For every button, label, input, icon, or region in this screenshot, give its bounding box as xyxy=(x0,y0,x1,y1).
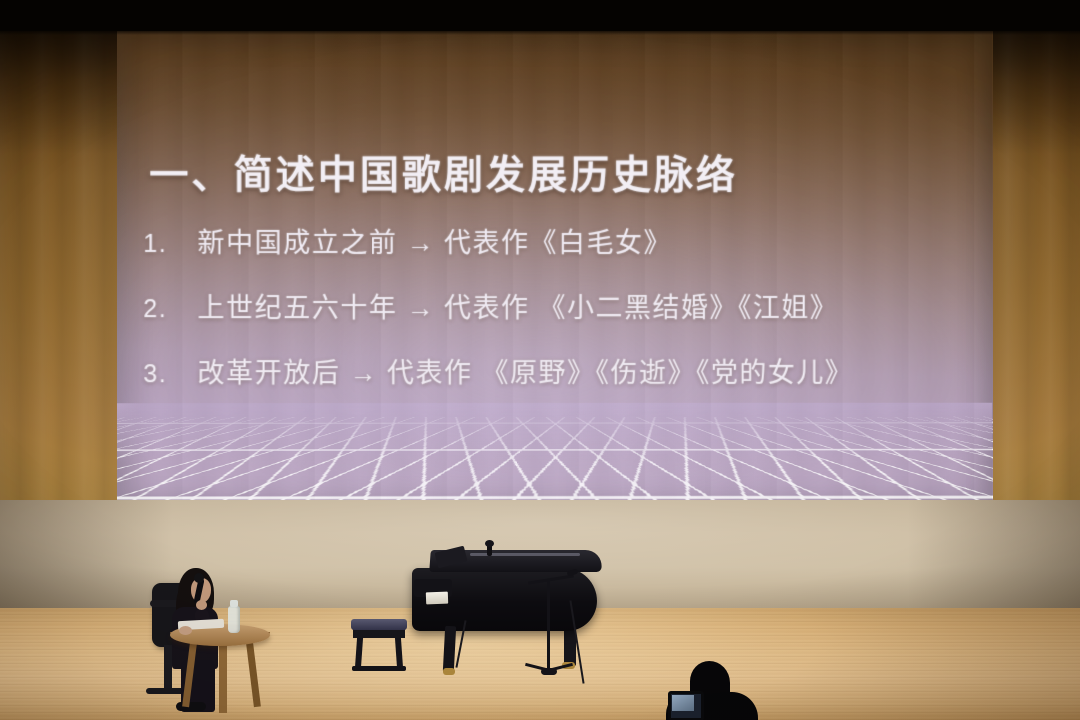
piano-bench-seat xyxy=(351,619,407,630)
slide-item-text: 新中国成立之前 → 代表作《白毛女》 xyxy=(197,221,993,260)
slide-item-number: 3. xyxy=(143,360,197,389)
mic-stand-pole xyxy=(547,580,550,672)
slide-list-item: 3. 改革开放后 → 代表作 《原野》《伤逝》《党的女儿》 xyxy=(143,351,993,390)
piano-caster-front xyxy=(443,668,455,675)
armchair-post xyxy=(164,645,172,693)
audience-phone-screen xyxy=(672,695,694,711)
slide-title: 一、简述中国歌剧发展历史脉络 xyxy=(149,144,738,200)
stage-photograph: 一、简述中国歌剧发展历史脉络 1. 新中国成立之前 → 代表作《白毛女》 2. … xyxy=(0,0,1080,720)
speaker-shoes xyxy=(176,702,206,711)
table-leg-center xyxy=(219,643,227,713)
piano-keys xyxy=(426,592,448,605)
bench-apron xyxy=(353,629,405,638)
handheld-microphone-head xyxy=(194,573,204,583)
mic-stand-base-hub xyxy=(541,668,557,675)
slide-item-number: 2. xyxy=(143,295,197,324)
piano-condenser-mic-head xyxy=(485,540,494,547)
projection-screen: 一、简述中国歌剧发展历史脉络 1. 新中国成立之前 → 代表作《白毛女》 2. … xyxy=(117,31,993,512)
projection-surface: 一、简述中国歌剧发展历史脉络 1. 新中国成立之前 → 代表作《白毛女》 2. … xyxy=(117,31,992,512)
water-bottle xyxy=(228,606,240,633)
speaker-hand-holding-mic xyxy=(196,600,207,610)
slide-item-text: 上世纪五六十年 → 代表作 《小二黑结婚》《江姐》 xyxy=(197,286,993,325)
bench-base xyxy=(352,666,406,671)
top-black-band xyxy=(0,0,1080,31)
slide-list-item: 2. 上世纪五六十年 → 代表作 《小二黑结婚》《江姐》 xyxy=(143,286,993,325)
slide-item-text: 改革开放后 → 代表作 《原野》《伤逝》《党的女儿》 xyxy=(197,351,993,390)
slide-item-number: 1. xyxy=(143,230,197,259)
speaker-hand-on-table xyxy=(179,626,192,635)
slide-bullet-list: 1. 新中国成立之前 → 代表作《白毛女》 2. 上世纪五六十年 → 代表作 《… xyxy=(143,221,993,416)
water-bottle-cap xyxy=(230,600,238,607)
slide-list-item: 1. 新中国成立之前 → 代表作《白毛女》 xyxy=(143,221,993,260)
slide-content: 一、简述中国歌剧发展历史脉络 1. 新中国成立之前 → 代表作《白毛女》 2. … xyxy=(117,31,992,512)
